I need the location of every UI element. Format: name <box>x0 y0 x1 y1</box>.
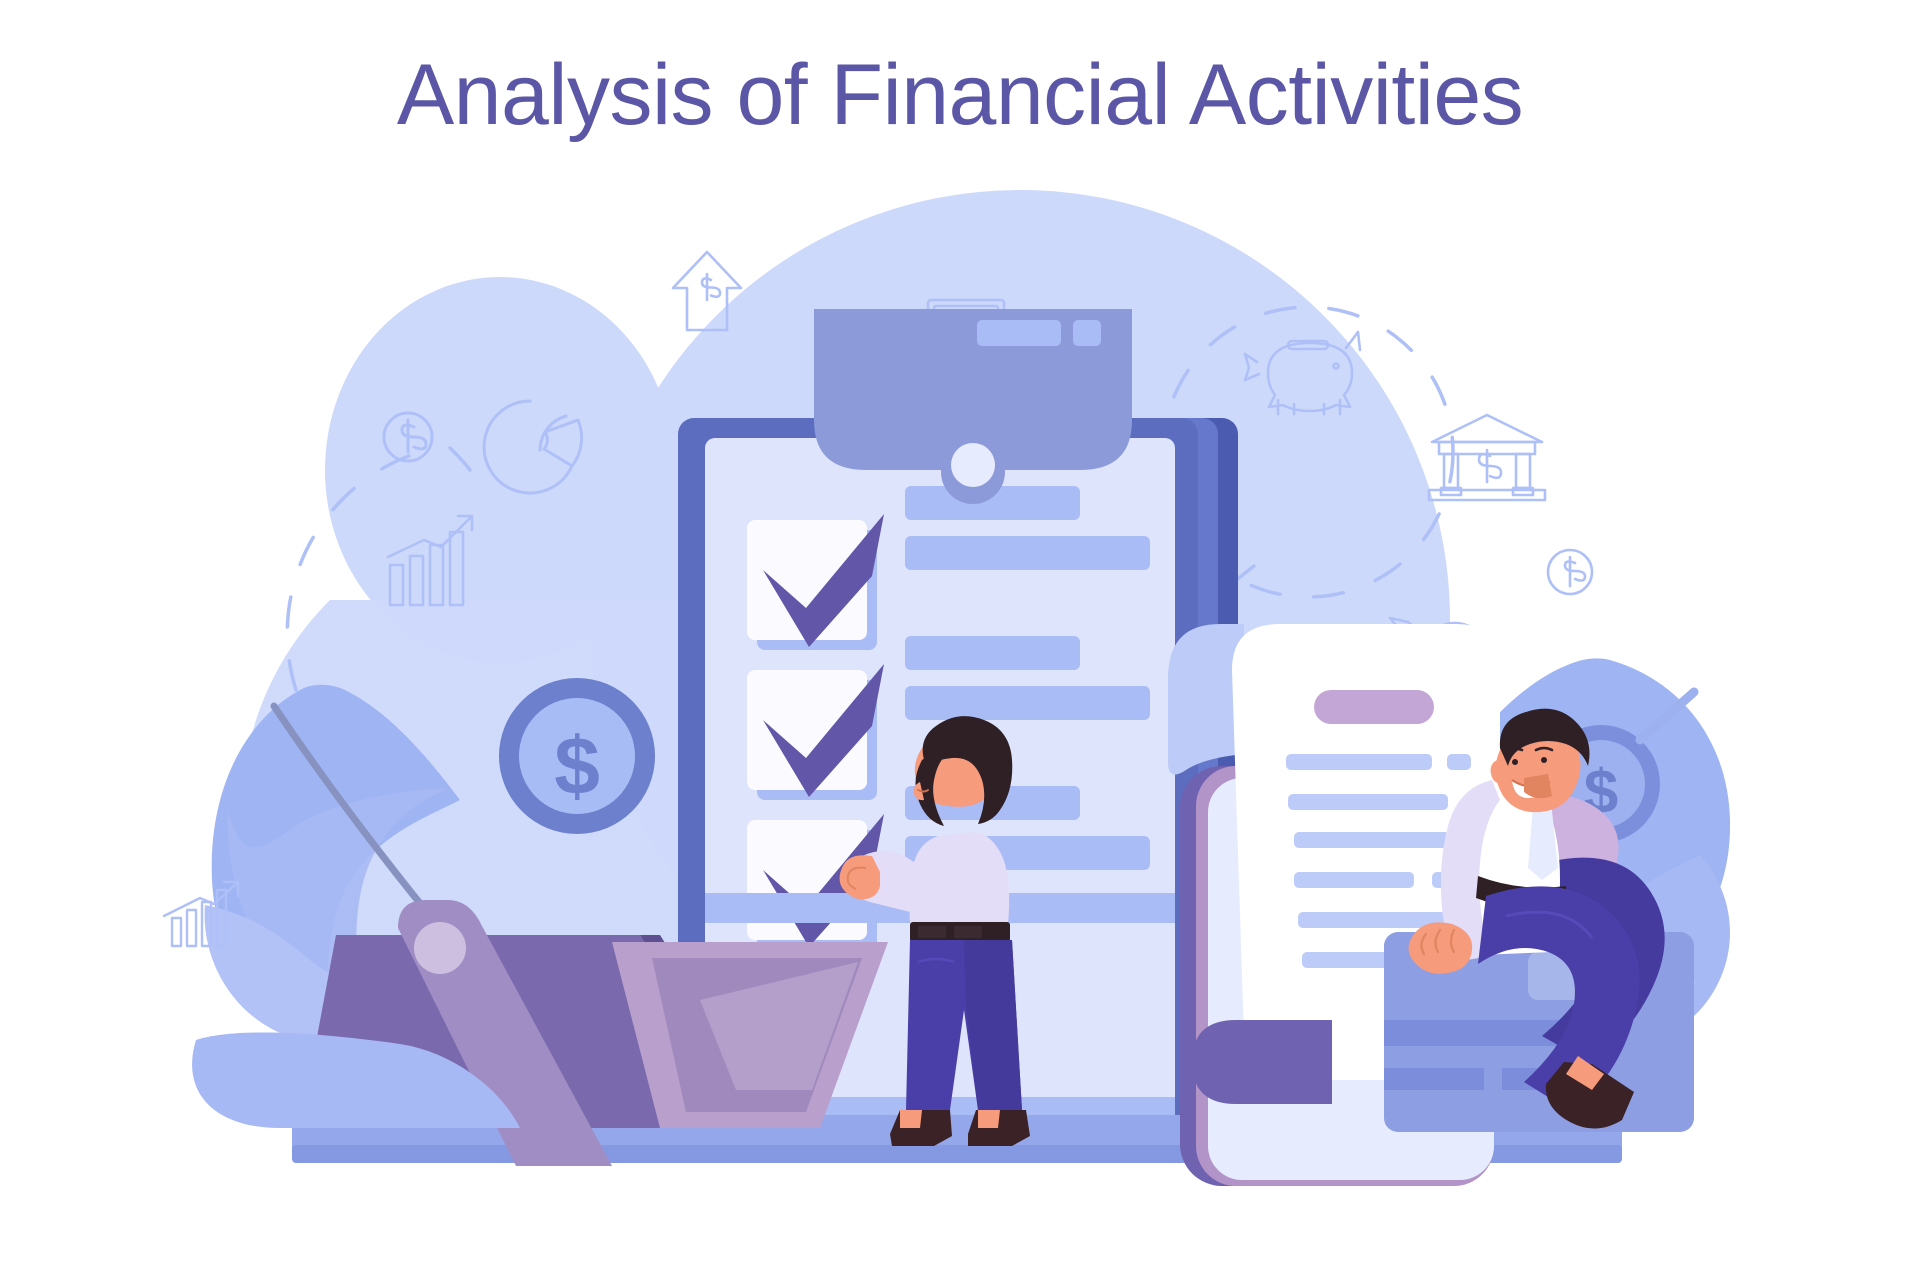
svg-text:$: $ <box>554 721 600 812</box>
row-bar-short-1 <box>905 536 1150 570</box>
document-badge <box>1314 690 1434 724</box>
clip-label-block-2 <box>1073 320 1101 346</box>
dollar-coin-large-left: $ <box>499 678 655 834</box>
dollar-circle-small-icon <box>1548 550 1592 594</box>
illustration-stage: Analysis of Financial Activities <box>0 0 1920 1280</box>
row-bar-long-2 <box>905 636 1080 670</box>
row-bar-short-2 <box>905 686 1150 720</box>
bar-chart-small-icon <box>164 882 238 946</box>
man-neck <box>1524 774 1552 798</box>
card-stripe-2 <box>1384 1068 1484 1090</box>
bank-building-icon <box>1429 415 1545 500</box>
woman-torso <box>910 832 1010 924</box>
illustration-artwork: $ <box>0 0 1920 1280</box>
document-curl <box>1168 624 1244 775</box>
clip-rivet <box>951 443 995 487</box>
clip-label-block-1 <box>977 320 1061 346</box>
document-bottom-tab <box>1192 1020 1332 1104</box>
